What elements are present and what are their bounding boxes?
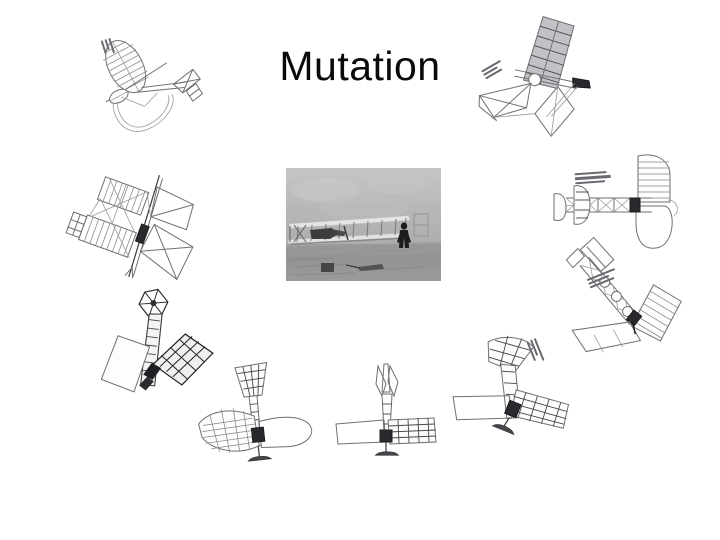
presentation-slide: Mutation [0,0,720,540]
caption-mark-mid-right [575,171,614,188]
wright-flyer-first-flight-photo [286,168,441,281]
aircraft-plan-bottom-center-right [336,362,444,462]
aircraft-plan-top-right [456,0,623,157]
aircraft-plan-top-left [60,11,215,160]
aircraft-plan-mid-left [57,147,216,296]
aircraft-plan-bottom-center-left [191,354,320,476]
aircraft-plan-mid-right [552,150,682,262]
